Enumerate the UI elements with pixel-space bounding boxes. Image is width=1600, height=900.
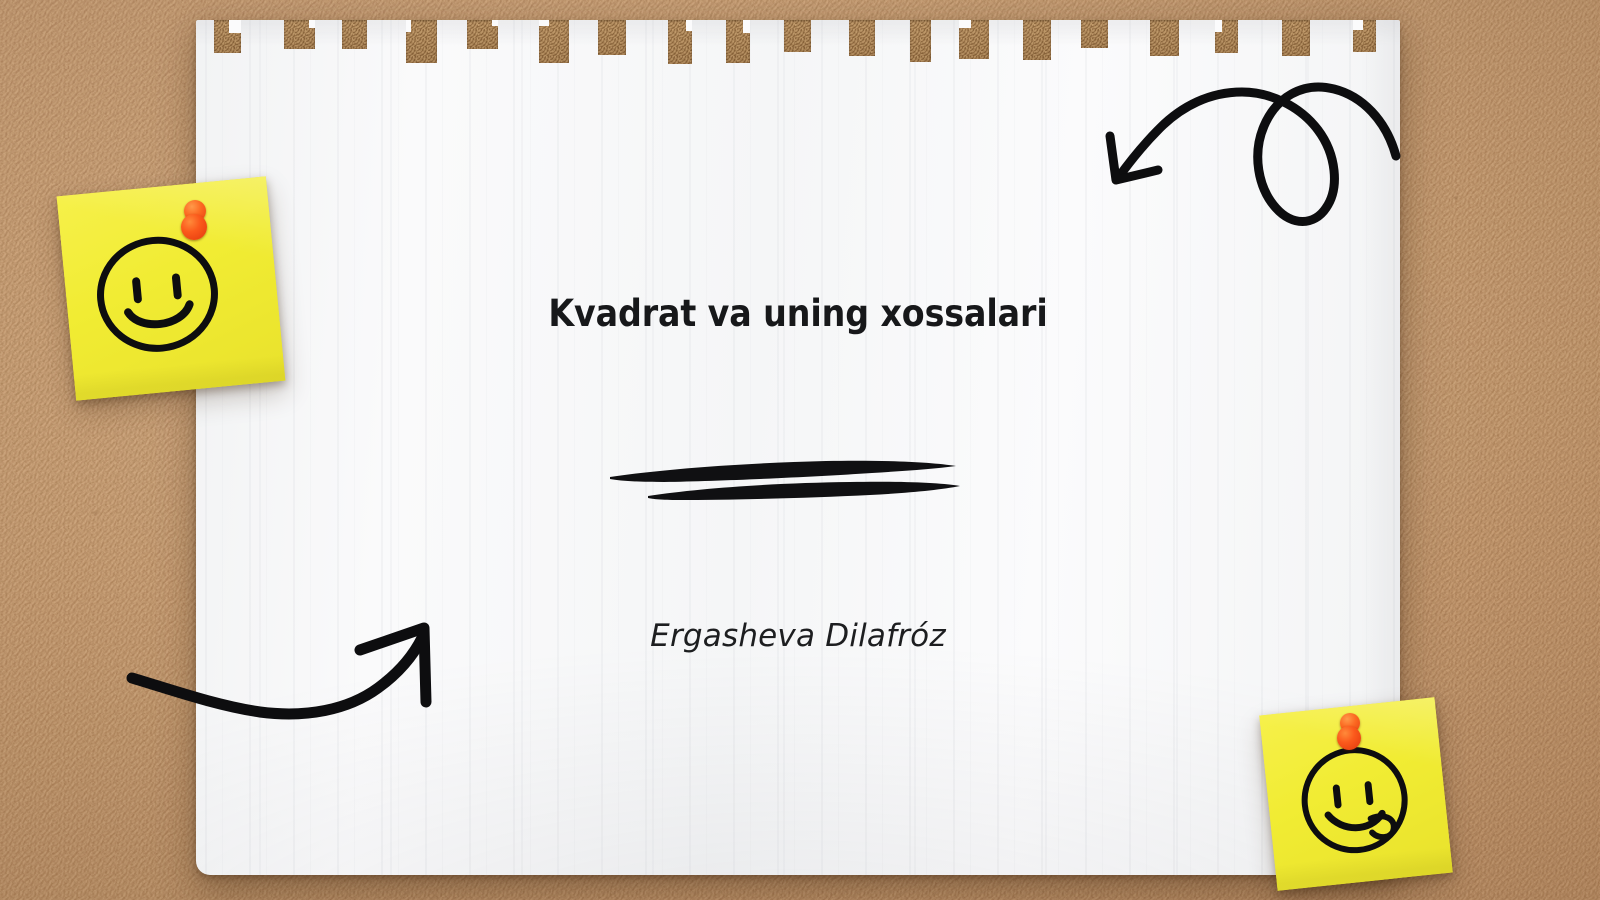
paper-perforation-hole: [784, 20, 811, 52]
sticky-note-top-left[interactable]: [57, 176, 286, 400]
page-title: Kvadrat va uning xossalari: [196, 292, 1400, 335]
paper-perforation-hole: [910, 20, 931, 62]
paper-perforation-hole: [1282, 20, 1310, 56]
pushpin-base: [1337, 726, 1361, 750]
pushpin-base: [181, 214, 207, 240]
paper-perforation-hole: [1150, 20, 1179, 56]
paper-perforation-hole: [342, 20, 367, 49]
paper-perforation-hole: [1023, 20, 1051, 60]
paper-perforation-hole: [849, 20, 875, 56]
paper-tear-tab: [309, 20, 315, 28]
paper-tear-tab: [1353, 20, 1363, 30]
smiley-face-tongue-icon: [1291, 736, 1423, 868]
paper-tear-tab: [539, 20, 549, 26]
smiley-face-icon: [87, 223, 229, 365]
paper-tear-tab: [229, 20, 241, 33]
paper-tear-tab: [743, 20, 750, 33]
paper-tear-tab: [406, 20, 411, 32]
paper-tear-tab: [686, 20, 692, 31]
paper-surface: [196, 20, 1400, 875]
pushpin-top-left[interactable]: [180, 200, 212, 244]
paper-perforation-hole: [1081, 20, 1108, 48]
notebook-page: Kvadrat va uning xossalari Ergasheva Dil…: [196, 20, 1400, 875]
paper-tear-tab: [1215, 20, 1222, 32]
author-name: Ergasheva Dilafróz: [196, 618, 1400, 654]
paper-perforation-hole: [598, 20, 626, 55]
paper-tear-tab: [492, 20, 498, 26]
paper-perforation-hole: [539, 20, 569, 63]
paper-tear-tab: [959, 20, 971, 28]
pushpin-bottom-right[interactable]: [1336, 713, 1366, 755]
